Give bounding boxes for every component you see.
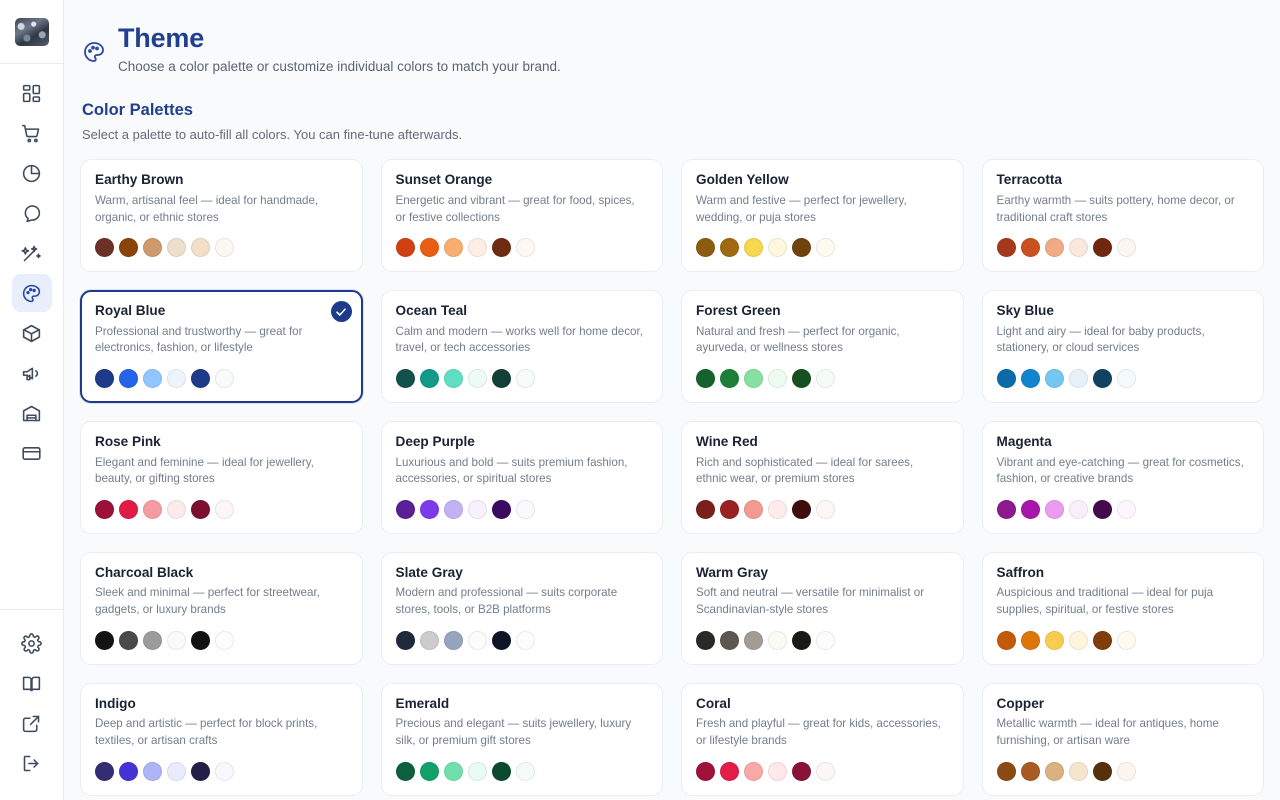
sidebar-item-products[interactable] (12, 314, 52, 352)
palette-swatch[interactable] (696, 500, 715, 519)
palette-description: Deep and artistic — perfect for block pr… (95, 716, 345, 750)
palette-swatch[interactable] (696, 631, 715, 650)
palette-swatch[interactable] (167, 500, 186, 519)
palette-swatch[interactable] (1021, 631, 1040, 650)
palette-swatches (997, 631, 1250, 650)
palette-name: Earthy Brown (95, 172, 348, 188)
palette-swatches (997, 762, 1250, 781)
palette-swatch[interactable] (95, 500, 114, 519)
palette-swatches (396, 631, 649, 650)
palette-name: Rose Pink (95, 434, 348, 450)
palette-swatch[interactable] (167, 631, 186, 650)
store-logo[interactable] (0, 0, 64, 64)
palette-swatches (997, 500, 1250, 519)
palette-swatch[interactable] (95, 238, 114, 257)
palette-card[interactable]: Sunset OrangeEnergetic and vibrant — gre… (381, 159, 664, 272)
sidebar-item-marketing-ai[interactable] (12, 234, 52, 272)
sidebar-item-docs[interactable] (12, 664, 52, 702)
palette-card[interactable]: Golden YellowWarm and festive — perfect … (681, 159, 964, 272)
page-subtitle: Choose a color palette or customize indi… (118, 59, 561, 74)
palette-swatch[interactable] (492, 238, 511, 257)
palette-swatch[interactable] (744, 631, 763, 650)
palette-swatch[interactable] (768, 238, 787, 257)
palette-card[interactable]: IndigoDeep and artistic — perfect for bl… (80, 683, 363, 796)
palette-swatch[interactable] (1021, 238, 1040, 257)
palette-name: Royal Blue (95, 303, 348, 319)
palette-swatches (696, 369, 949, 388)
palette-swatch[interactable] (420, 238, 439, 257)
sidebar-item-settings[interactable] (12, 624, 52, 662)
megaphone-icon (21, 363, 42, 384)
palette-name: Charcoal Black (95, 565, 348, 581)
palette-description: Earthy warmth — suits pottery, home deco… (997, 193, 1247, 227)
palette-swatch[interactable] (396, 369, 415, 388)
palette-description: Metallic warmth — ideal for antiques, ho… (997, 716, 1247, 750)
palette-description: Professional and trustworthy — great for… (95, 324, 345, 358)
palette-swatch[interactable] (396, 762, 415, 781)
palette-swatch[interactable] (167, 369, 186, 388)
color-palettes-subheading: Select a palette to auto-fill all colors… (82, 127, 1264, 142)
palette-card[interactable]: Royal BlueProfessional and trustworthy —… (80, 290, 363, 403)
palette-card[interactable]: Sky BlueLight and airy — ideal for baby … (982, 290, 1265, 403)
palette-swatch[interactable] (167, 762, 186, 781)
sidebar-item-logout[interactable] (12, 744, 52, 782)
palette-name: Golden Yellow (696, 172, 949, 188)
palette-icon (21, 283, 42, 304)
palette-swatch[interactable] (997, 500, 1016, 519)
palette-swatches (696, 631, 949, 650)
palette-card[interactable]: MagentaVibrant and eye-catching — great … (982, 421, 1265, 534)
palette-description: Fresh and playful — great for kids, acce… (696, 716, 946, 750)
palette-swatch[interactable] (444, 631, 463, 650)
palette-card[interactable]: Forest GreenNatural and fresh — perfect … (681, 290, 964, 403)
palette-swatch[interactable] (792, 238, 811, 257)
sidebar-item-messages[interactable] (12, 194, 52, 232)
palette-swatch[interactable] (816, 762, 835, 781)
palette-swatch[interactable] (468, 500, 487, 519)
palette-swatch[interactable] (1093, 238, 1112, 257)
box-icon (21, 323, 42, 344)
palette-swatch[interactable] (720, 762, 739, 781)
palette-swatch[interactable] (696, 369, 715, 388)
palette-name: Warm Gray (696, 565, 949, 581)
chat-bubble-icon (21, 203, 42, 224)
palette-swatches (997, 369, 1250, 388)
palette-swatch[interactable] (215, 369, 234, 388)
palette-swatch[interactable] (444, 238, 463, 257)
palette-swatch[interactable] (444, 762, 463, 781)
sidebar-item-payments[interactable] (12, 434, 52, 472)
palette-swatch[interactable] (516, 631, 535, 650)
palette-swatches (696, 238, 949, 257)
main-content: Theme Choose a color palette or customiz… (64, 0, 1280, 800)
palette-description: Light and airy — ideal for baby products… (997, 324, 1247, 358)
palette-swatch[interactable] (215, 500, 234, 519)
palette-swatches (396, 369, 649, 388)
palette-swatch[interactable] (1021, 500, 1040, 519)
palette-swatch[interactable] (396, 238, 415, 257)
palette-swatch[interactable] (492, 762, 511, 781)
palette-swatch[interactable] (516, 762, 535, 781)
palette-card[interactable]: CopperMetallic warmth — ideal for antiqu… (982, 683, 1265, 796)
palette-swatch[interactable] (215, 238, 234, 257)
palette-swatch[interactable] (1117, 631, 1136, 650)
palette-swatch[interactable] (816, 631, 835, 650)
cart-icon (21, 123, 42, 144)
palette-description: Modern and professional — suits corporat… (396, 585, 646, 619)
palette-swatch[interactable] (768, 631, 787, 650)
palette-swatch[interactable] (492, 500, 511, 519)
palette-name: Magenta (997, 434, 1250, 450)
palette-swatch[interactable] (1117, 762, 1136, 781)
palette-swatch[interactable] (997, 369, 1016, 388)
palette-swatch[interactable] (1069, 238, 1088, 257)
palette-swatch[interactable] (191, 238, 210, 257)
book-icon (21, 673, 42, 694)
palette-swatch[interactable] (468, 238, 487, 257)
credit-card-icon (21, 443, 42, 464)
palette-swatches (696, 762, 949, 781)
palette-swatch[interactable] (792, 631, 811, 650)
palette-card[interactable]: TerracottaEarthy warmth — suits pottery,… (982, 159, 1265, 272)
palette-description: Rich and sophisticated — ideal for saree… (696, 455, 946, 489)
palette-swatch[interactable] (792, 762, 811, 781)
palette-swatches (95, 369, 348, 388)
page-header: Theme Choose a color palette or customiz… (80, 22, 1264, 74)
palette-swatch[interactable] (744, 238, 763, 257)
palette-description: Natural and fresh — perfect for organic,… (696, 324, 946, 358)
color-palettes-heading: Color Palettes (82, 101, 1264, 120)
palette-swatch[interactable] (1045, 500, 1064, 519)
palette-card[interactable]: Earthy BrownWarm, artisanal feel — ideal… (80, 159, 363, 272)
palette-swatch[interactable] (468, 762, 487, 781)
palette-swatch[interactable] (1093, 500, 1112, 519)
palette-swatch[interactable] (215, 762, 234, 781)
palette-swatch[interactable] (420, 631, 439, 650)
palette-swatch[interactable] (1069, 500, 1088, 519)
sidebar-item-orders[interactable] (12, 114, 52, 152)
palette-description: Vibrant and eye-catching — great for cos… (997, 455, 1247, 489)
palette-swatch[interactable] (396, 631, 415, 650)
palette-swatch[interactable] (720, 631, 739, 650)
palette-swatches (95, 762, 348, 781)
palette-swatch[interactable] (1093, 631, 1112, 650)
palette-name: Wine Red (696, 434, 949, 450)
check-icon (335, 306, 347, 318)
palette-swatches (396, 762, 649, 781)
palette-swatch[interactable] (1117, 238, 1136, 257)
palette-swatch[interactable] (997, 238, 1016, 257)
palette-swatch[interactable] (1045, 631, 1064, 650)
sidebar-nav-top (12, 74, 52, 472)
palette-swatch[interactable] (792, 369, 811, 388)
palette-name: Sunset Orange (396, 172, 649, 188)
palette-swatch[interactable] (1069, 369, 1088, 388)
palette-swatch[interactable] (95, 762, 114, 781)
palette-swatches (95, 500, 348, 519)
palette-swatch[interactable] (143, 762, 162, 781)
palette-swatch[interactable] (1021, 369, 1040, 388)
palette-swatch[interactable] (1021, 762, 1040, 781)
palette-swatch[interactable] (1093, 369, 1112, 388)
palette-swatch[interactable] (191, 631, 210, 650)
palette-swatch[interactable] (768, 500, 787, 519)
page-title: Theme (118, 22, 561, 54)
palette-card[interactable]: SaffronAuspicious and traditional — idea… (982, 552, 1265, 665)
palette-name: Slate Gray (396, 565, 649, 581)
palette-name: Forest Green (696, 303, 949, 319)
palette-swatch[interactable] (816, 238, 835, 257)
selected-badge (331, 301, 352, 322)
palette-swatch[interactable] (792, 500, 811, 519)
palette-description: Calm and modern — works well for home de… (396, 324, 646, 358)
gear-icon (21, 633, 42, 654)
external-link-icon (21, 713, 42, 734)
store-logo-image (15, 18, 49, 46)
palette-swatch[interactable] (744, 369, 763, 388)
palette-card[interactable]: EmeraldPrecious and elegant — suits jewe… (381, 683, 664, 796)
palette-card[interactable]: Wine RedRich and sophisticated — ideal f… (681, 421, 964, 534)
palette-swatch[interactable] (95, 369, 114, 388)
palette-description: Warm, artisanal feel — ideal for handmad… (95, 193, 345, 227)
palette-card[interactable]: CoralFresh and playful — great for kids,… (681, 683, 964, 796)
palette-swatch[interactable] (396, 500, 415, 519)
palette-icon (82, 40, 106, 64)
palette-swatch[interactable] (191, 500, 210, 519)
palette-swatch[interactable] (119, 762, 138, 781)
palette-swatch[interactable] (516, 500, 535, 519)
palette-swatch[interactable] (119, 369, 138, 388)
palette-card[interactable]: Warm GraySoft and neutral — versatile fo… (681, 552, 964, 665)
sidebar-item-open-store[interactable] (12, 704, 52, 742)
palette-swatches (95, 238, 348, 257)
palette-swatch[interactable] (119, 238, 138, 257)
palette-name: Ocean Teal (396, 303, 649, 319)
palette-name: Copper (997, 696, 1250, 712)
palette-description: Soft and neutral — versatile for minimal… (696, 585, 946, 619)
palette-swatch[interactable] (444, 369, 463, 388)
palette-name: Terracotta (997, 172, 1250, 188)
palette-card[interactable]: Charcoal BlackSleek and minimal — perfec… (80, 552, 363, 665)
palette-swatches (95, 631, 348, 650)
palette-swatch[interactable] (215, 631, 234, 650)
palette-swatch[interactable] (143, 369, 162, 388)
sidebar-nav-bottom (0, 609, 64, 800)
palette-card[interactable]: Slate GrayModern and professional — suit… (381, 552, 664, 665)
palette-swatches (396, 238, 649, 257)
warehouse-icon (21, 403, 42, 424)
palette-swatch[interactable] (516, 238, 535, 257)
palette-swatch[interactable] (143, 500, 162, 519)
sidebar (0, 0, 64, 800)
palette-swatch[interactable] (468, 369, 487, 388)
palette-name: Indigo (95, 696, 348, 712)
palette-swatch[interactable] (444, 500, 463, 519)
palette-swatches (696, 500, 949, 519)
palette-swatch[interactable] (1045, 238, 1064, 257)
palette-swatch[interactable] (143, 238, 162, 257)
palette-swatch[interactable] (816, 500, 835, 519)
logout-icon (21, 753, 42, 774)
palette-swatch[interactable] (492, 631, 511, 650)
palette-swatch[interactable] (119, 500, 138, 519)
palette-swatch[interactable] (468, 631, 487, 650)
palette-grid: Earthy BrownWarm, artisanal feel — ideal… (80, 159, 1264, 796)
palette-swatch[interactable] (744, 500, 763, 519)
palette-description: Warm and festive — perfect for jewellery… (696, 193, 946, 227)
palette-swatch[interactable] (1045, 762, 1064, 781)
sidebar-item-warehouse[interactable] (12, 394, 52, 432)
palette-swatch[interactable] (696, 238, 715, 257)
palette-name: Coral (696, 696, 949, 712)
palette-swatch[interactable] (696, 762, 715, 781)
sidebar-item-campaigns[interactable] (12, 354, 52, 392)
palette-swatch[interactable] (420, 762, 439, 781)
palette-description: Luxurious and bold — suits premium fashi… (396, 455, 646, 489)
palette-description: Auspicious and traditional — ideal for p… (997, 585, 1247, 619)
palette-swatch[interactable] (768, 369, 787, 388)
palette-swatch[interactable] (997, 631, 1016, 650)
palette-description: Precious and elegant — suits jewellery, … (396, 716, 646, 750)
palette-name: Deep Purple (396, 434, 649, 450)
palette-swatch[interactable] (191, 762, 210, 781)
pie-chart-icon (21, 163, 42, 184)
palette-description: Energetic and vibrant — great for food, … (396, 193, 646, 227)
palette-swatch[interactable] (1117, 500, 1136, 519)
palette-swatch[interactable] (744, 762, 763, 781)
palette-swatch[interactable] (191, 369, 210, 388)
palette-name: Emerald (396, 696, 649, 712)
palette-swatches (396, 500, 649, 519)
palette-swatch[interactable] (492, 369, 511, 388)
palette-swatch[interactable] (420, 369, 439, 388)
palette-card[interactable]: Deep PurpleLuxurious and bold — suits pr… (381, 421, 664, 534)
palette-card[interactable]: Rose PinkElegant and feminine — ideal fo… (80, 421, 363, 534)
palette-swatch[interactable] (768, 762, 787, 781)
palette-swatch[interactable] (816, 369, 835, 388)
palette-swatch[interactable] (167, 238, 186, 257)
palette-swatch[interactable] (1045, 369, 1064, 388)
palette-swatch[interactable] (1117, 369, 1136, 388)
palette-swatch[interactable] (119, 631, 138, 650)
sidebar-item-dashboard[interactable] (12, 74, 52, 112)
palette-name: Saffron (997, 565, 1250, 581)
sidebar-item-analytics[interactable] (12, 154, 52, 192)
palette-swatch[interactable] (516, 369, 535, 388)
palette-swatch[interactable] (720, 369, 739, 388)
palette-name: Sky Blue (997, 303, 1250, 319)
magic-wand-icon (21, 243, 42, 264)
palette-swatch[interactable] (1093, 762, 1112, 781)
palette-swatch[interactable] (720, 238, 739, 257)
palette-card[interactable]: Ocean TealCalm and modern — works well f… (381, 290, 664, 403)
dashboard-icon (21, 83, 42, 104)
palette-swatch[interactable] (95, 631, 114, 650)
palette-swatch[interactable] (997, 762, 1016, 781)
palette-description: Sleek and minimal — perfect for streetwe… (95, 585, 345, 619)
palette-swatches (997, 238, 1250, 257)
palette-swatch[interactable] (1069, 631, 1088, 650)
palette-swatch[interactable] (420, 500, 439, 519)
palette-description: Elegant and feminine — ideal for jewelle… (95, 455, 345, 489)
palette-swatch[interactable] (1069, 762, 1088, 781)
sidebar-item-theme[interactable] (12, 274, 52, 312)
palette-swatch[interactable] (143, 631, 162, 650)
palette-swatch[interactable] (720, 500, 739, 519)
